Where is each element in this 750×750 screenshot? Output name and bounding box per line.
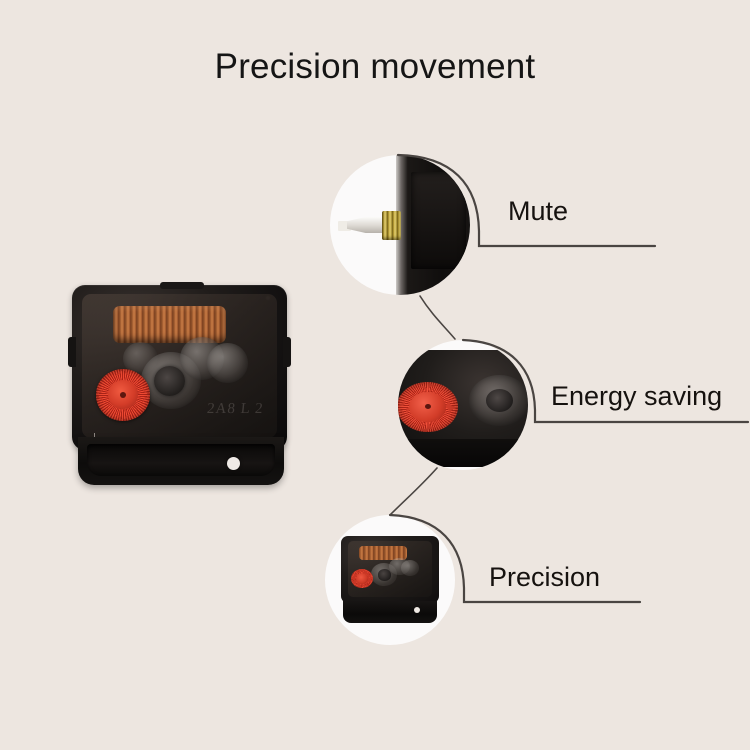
movement-window-mini (348, 541, 433, 596)
embossed-marking: 2A8 L 2 (206, 401, 264, 418)
callout-shaft-side-view (330, 155, 470, 295)
battery-compartment (343, 601, 437, 623)
battery-terminal-dot (414, 607, 420, 613)
red-gear-wheel (398, 382, 458, 432)
infographic-canvas: Precision movement 2A8 L 2 (0, 0, 750, 750)
movement-window: 2A8 L 2 (82, 294, 277, 438)
callout-red-gear-closeup (398, 340, 528, 470)
battery-slot (87, 444, 275, 476)
white-plastic-shaft (347, 217, 386, 234)
red-gear-wheel (96, 369, 151, 421)
gear-icon (207, 343, 248, 383)
movement-shell: 2A8 L 2 (72, 285, 287, 450)
movement-shell-mini (341, 536, 440, 604)
movement-side-body (396, 155, 470, 295)
battery-terminal-dot (227, 457, 240, 470)
gear-hub (378, 569, 391, 580)
page-title: Precision movement (0, 48, 750, 87)
feature-label-precision: Precision (489, 564, 600, 591)
feature-label-energy-saving: Energy saving (551, 383, 722, 410)
gear-icon (401, 560, 419, 576)
battery-compartment (78, 437, 284, 485)
link-line-2-3 (390, 468, 437, 515)
callout-full-movement (325, 515, 455, 645)
brass-hex-nut (382, 211, 402, 240)
red-gear-wheel (351, 569, 373, 588)
link-line-1-2 (420, 296, 455, 339)
feature-label-mute: Mute (508, 198, 568, 225)
gear-hub (469, 375, 528, 426)
movement-base-edge (398, 439, 528, 468)
shell-tab-left (68, 337, 76, 367)
movement-side-inner (411, 172, 466, 269)
copper-coil (468, 200, 470, 266)
shell-notch (160, 282, 204, 289)
shell-tab-right (283, 337, 291, 367)
product-main-image: 2A8 L 2 (72, 285, 297, 495)
